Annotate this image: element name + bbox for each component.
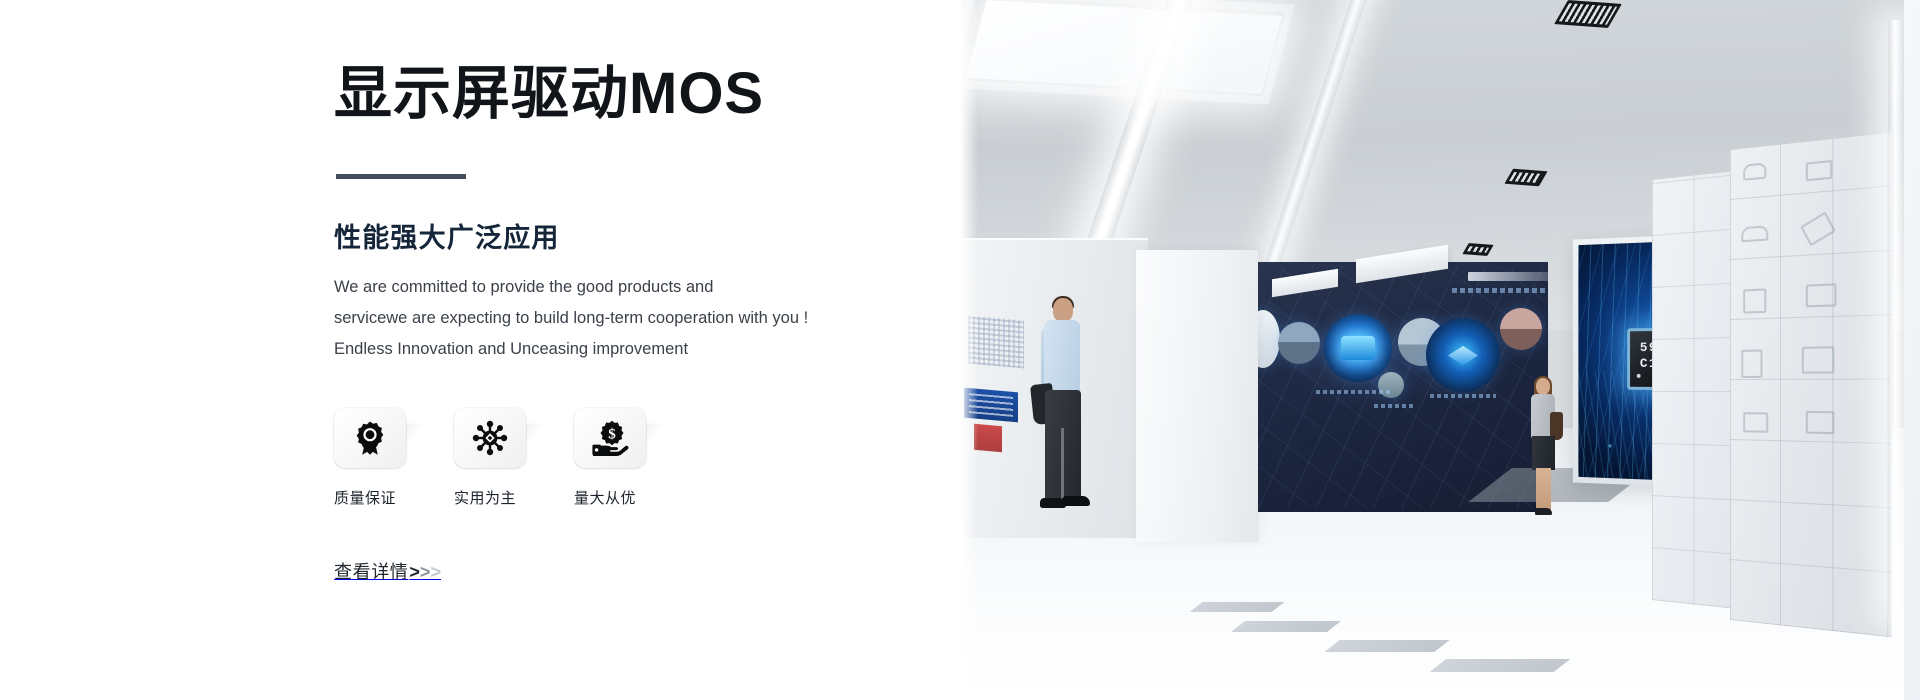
relief-panel-wall xyxy=(1730,133,1891,638)
relief-panel-grid xyxy=(1652,171,1735,609)
center-white-pillar xyxy=(1136,250,1258,542)
shoe xyxy=(1535,508,1552,515)
chip-pin1-dot xyxy=(1637,374,1641,378)
floor-inlay-strip xyxy=(1231,621,1341,632)
navy-wall-caption xyxy=(1374,404,1414,408)
navy-wall-heading xyxy=(1468,272,1548,281)
vertical-led-strip xyxy=(1888,20,1904,620)
chevron-2: > xyxy=(420,563,431,581)
wall-circle-photo-building xyxy=(1278,322,1320,364)
photo-left-fade xyxy=(960,0,978,700)
chevron-right-icon: > > > xyxy=(409,563,441,581)
feature-label: 量大从优 xyxy=(574,487,666,508)
person-businesswoman xyxy=(1522,378,1562,518)
feature-item-practical[interactable]: 实用为主 xyxy=(454,408,546,508)
hand-money-icon: $ xyxy=(591,420,629,456)
head xyxy=(1536,378,1550,395)
feature-list: 质量保证 xyxy=(334,408,894,508)
floor-inlay-strip xyxy=(1324,640,1449,652)
skylight-panel-light xyxy=(966,0,1283,94)
feature-item-quality[interactable]: 质量保证 xyxy=(334,408,426,508)
relief-icon-machine xyxy=(1806,283,1837,307)
hero-banner: 显示屏驱动MOS 性能强大广泛应用 We are committed to pr… xyxy=(0,0,1920,700)
wall-circle-chip-graphic xyxy=(1324,314,1392,382)
description-line-3: Endless Innovation and Unceasing improve… xyxy=(334,334,894,365)
banner-subheading: 性能强大广泛应用 xyxy=(334,221,894,256)
navy-wall-subheading xyxy=(1452,288,1548,293)
page-title: 显示屏驱动MOS xyxy=(334,62,894,127)
feature-label: 质量保证 xyxy=(334,487,426,508)
svg-text:$: $ xyxy=(608,427,616,443)
person-businessman xyxy=(1028,298,1092,522)
chevron-3: > xyxy=(430,563,441,581)
navy-wall-caption xyxy=(1316,390,1390,394)
relief-icon-robot xyxy=(1743,288,1766,313)
feature-icon-tile xyxy=(454,408,526,468)
head xyxy=(1053,298,1073,322)
view-details-link[interactable]: 查看详情 > > > xyxy=(334,558,441,584)
relief-icon-car xyxy=(1741,225,1768,242)
relief-icon-module xyxy=(1806,411,1835,434)
shoe xyxy=(1062,496,1090,506)
description-line-2: servicewe are expecting to build long-te… xyxy=(334,303,894,334)
banner-text-pane: 显示屏驱动MOS 性能强大广泛应用 We are committed to pr… xyxy=(0,0,960,700)
wall-circle-photo-interior xyxy=(1500,308,1542,350)
feature-icon-tile xyxy=(334,408,406,468)
wall-circle-chip-glow xyxy=(1426,318,1500,392)
relief-icon-device xyxy=(1743,412,1768,433)
relief-panel-wall-far xyxy=(1652,171,1735,609)
banner-copy-block: 显示屏驱动MOS 性能强大广泛应用 We are committed to pr… xyxy=(334,62,894,584)
leg-separation xyxy=(1061,428,1064,500)
feature-item-bulk-discount[interactable]: $ 量大从优 xyxy=(574,408,666,508)
chevron-1: > xyxy=(409,563,420,581)
red-wall-marker xyxy=(974,424,1002,452)
view-details-label: 查看详情 xyxy=(334,558,408,584)
relief-icon-cabinet xyxy=(1741,349,1762,377)
wall-circle-small xyxy=(1378,372,1404,398)
showroom-interior-photo: 5947 C18A xyxy=(960,0,1920,700)
floor-inlay-strip xyxy=(1430,659,1571,672)
skirt xyxy=(1532,436,1555,470)
feature-label: 实用为主 xyxy=(454,487,546,508)
brand-signage-wall: 创 和 电 子 xyxy=(1904,0,1920,700)
relief-icon-equipment xyxy=(1802,346,1835,373)
navy-wall-caption xyxy=(1430,394,1496,398)
relief-icon-panel xyxy=(1806,160,1832,181)
relief-icon-vehicle xyxy=(1743,162,1766,180)
award-medal-icon xyxy=(353,420,387,456)
feature-icon-tile: $ xyxy=(574,408,646,468)
floor-inlay-strip xyxy=(1190,602,1285,612)
banner-description: We are committed to provide the good pro… xyxy=(334,272,894,365)
legs xyxy=(1536,468,1551,510)
network-hub-icon xyxy=(472,420,508,456)
title-divider xyxy=(336,174,466,179)
relief-panel-grid xyxy=(1730,133,1891,638)
description-line-1: We are committed to provide the good pro… xyxy=(334,272,894,303)
